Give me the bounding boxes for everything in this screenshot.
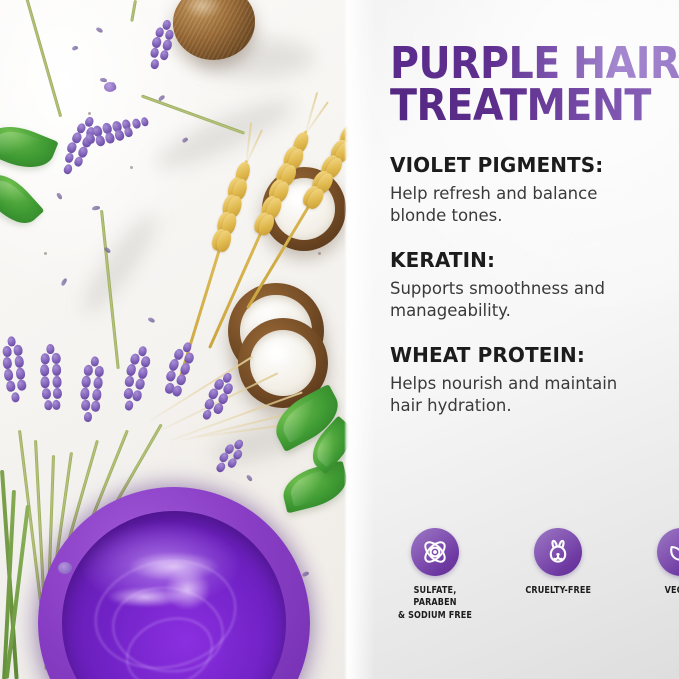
- product-infographic: PURPLE HAIR TREATMENT VIOLET PIGMENTS: H…: [0, 0, 679, 679]
- benefit-wheat-protein: WHEAT PROTEIN: Helps nourish and maintai…: [390, 343, 679, 417]
- badge-circle: [411, 528, 459, 576]
- certification-badges: SULFATE, PARABEN & SODIUM FREE: [390, 528, 679, 622]
- content-panel: PURPLE HAIR TREATMENT VIOLET PIGMENTS: H…: [349, 0, 679, 679]
- lavender-spike: [37, 344, 66, 425]
- lavender-floret: [58, 562, 72, 574]
- badge-label: CRUELTY-FREE: [525, 585, 591, 597]
- leaf-icon: [665, 536, 679, 568]
- benefit-description: Help refresh and balance blonde tones.: [390, 183, 638, 227]
- page-title-line-1: PURPLE HAIR: [390, 43, 679, 85]
- atom-icon: [419, 536, 451, 568]
- purple-cream: [62, 511, 285, 679]
- badge-label: SULFATE, PARABEN & SODIUM FREE: [396, 585, 473, 622]
- benefit-title: WHEAT PROTEIN:: [390, 343, 679, 367]
- benefit-keratin: KERATIN: Supports smoothness and managea…: [390, 248, 679, 322]
- product-photo: [0, 0, 349, 679]
- badge-circle: [657, 528, 679, 576]
- page-title: PURPLE HAIR TREATMENT: [390, 43, 679, 127]
- rabbit-icon: [542, 536, 574, 568]
- benefit-description: Helps nourish and maintain hair hydratio…: [390, 373, 638, 417]
- lavender-floret: [104, 82, 116, 92]
- badge-sulfate-paraben-sodium-free: SULFATE, PARABEN & SODIUM FREE: [390, 528, 480, 622]
- coconut-whole: [173, 0, 255, 60]
- speck: [318, 252, 321, 255]
- speck: [44, 252, 47, 255]
- page-title-line-2: TREATMENT: [390, 85, 679, 127]
- badge-label: VEGAN: [665, 585, 679, 597]
- speck: [130, 166, 133, 169]
- speck: [88, 112, 91, 115]
- benefit-violet-pigments: VIOLET PIGMENTS: Help refresh and balanc…: [390, 153, 679, 227]
- badge-circle: [534, 528, 582, 576]
- benefit-title: VIOLET PIGMENTS:: [390, 153, 679, 177]
- badge-cruelty-free: CRUELTY-FREE: [513, 528, 603, 597]
- badge-vegan: VEGAN: [636, 528, 679, 597]
- benefit-title: KERATIN:: [390, 248, 679, 272]
- benefit-description: Supports smoothness and manageability.: [390, 278, 638, 322]
